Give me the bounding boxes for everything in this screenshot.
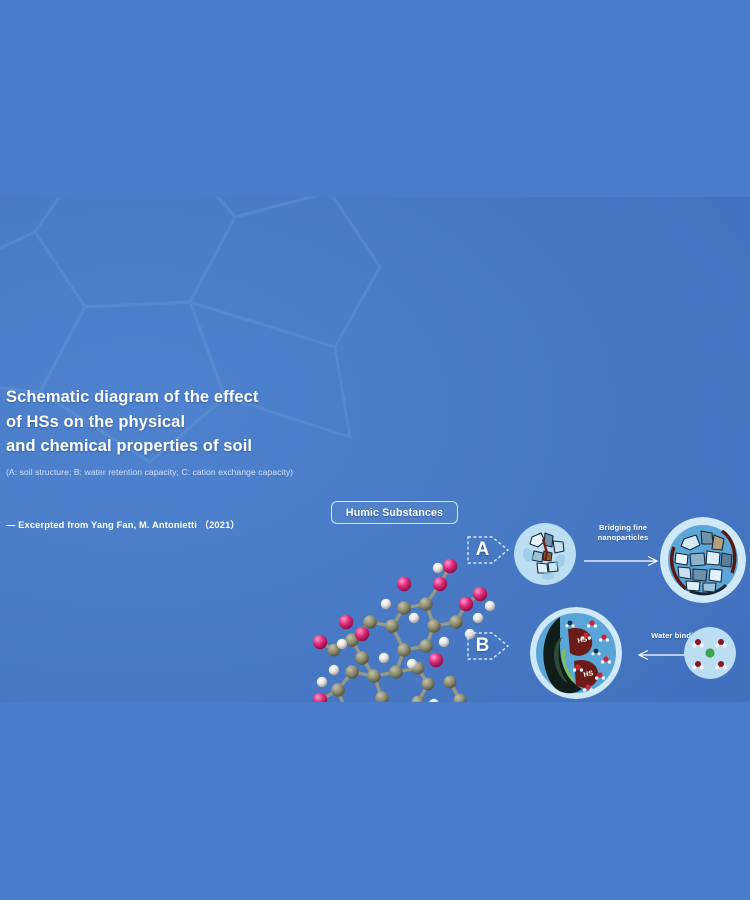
pathway-a-left-bubble [514, 523, 576, 585]
schematic-figure: Schematic diagram of the effect of HSs o… [0, 197, 750, 702]
page-title: Schematic diagram of the effect of HSs o… [6, 385, 336, 459]
pathway-b-letter: B [466, 625, 499, 667]
figure-subtitle: (A: soil structure; B: water retention c… [6, 466, 336, 479]
figure-credit: — Excerpted from Yang Fan, M. Antonietti… [6, 519, 336, 532]
pathway-a-process-label: Bridging fine nanoparticles [582, 523, 664, 542]
pathway-row-a: A [462, 517, 750, 609]
pathway-a-arrow-right-icon [584, 555, 664, 567]
pathway-b-right-bubble [684, 627, 736, 679]
bottom-padding-band [0, 702, 750, 900]
title-line-2: of HSs on the physical [6, 413, 185, 431]
pathway-a-chevron: A [466, 529, 510, 571]
pathway-a-right-bubble [660, 517, 746, 603]
humic-substances-text: Humic Substances [346, 507, 443, 519]
pathway-a-letter: A [466, 529, 499, 571]
title-line-3: and chemical properties of soil [6, 437, 252, 455]
figure-stage: Schematic diagram of the effect of HSs o… [0, 0, 750, 900]
top-padding-band [0, 0, 750, 197]
humic-substances-label: Humic Substances [331, 501, 458, 524]
text-block: Schematic diagram of the effect of HSs o… [6, 385, 336, 532]
title-line-1: Schematic diagram of the effect [6, 388, 259, 406]
pathway-row-b: B HS HS [462, 607, 750, 702]
pathway-b-left-bubble: HS HS [530, 607, 622, 699]
pathway-b-chevron: B [466, 625, 510, 667]
